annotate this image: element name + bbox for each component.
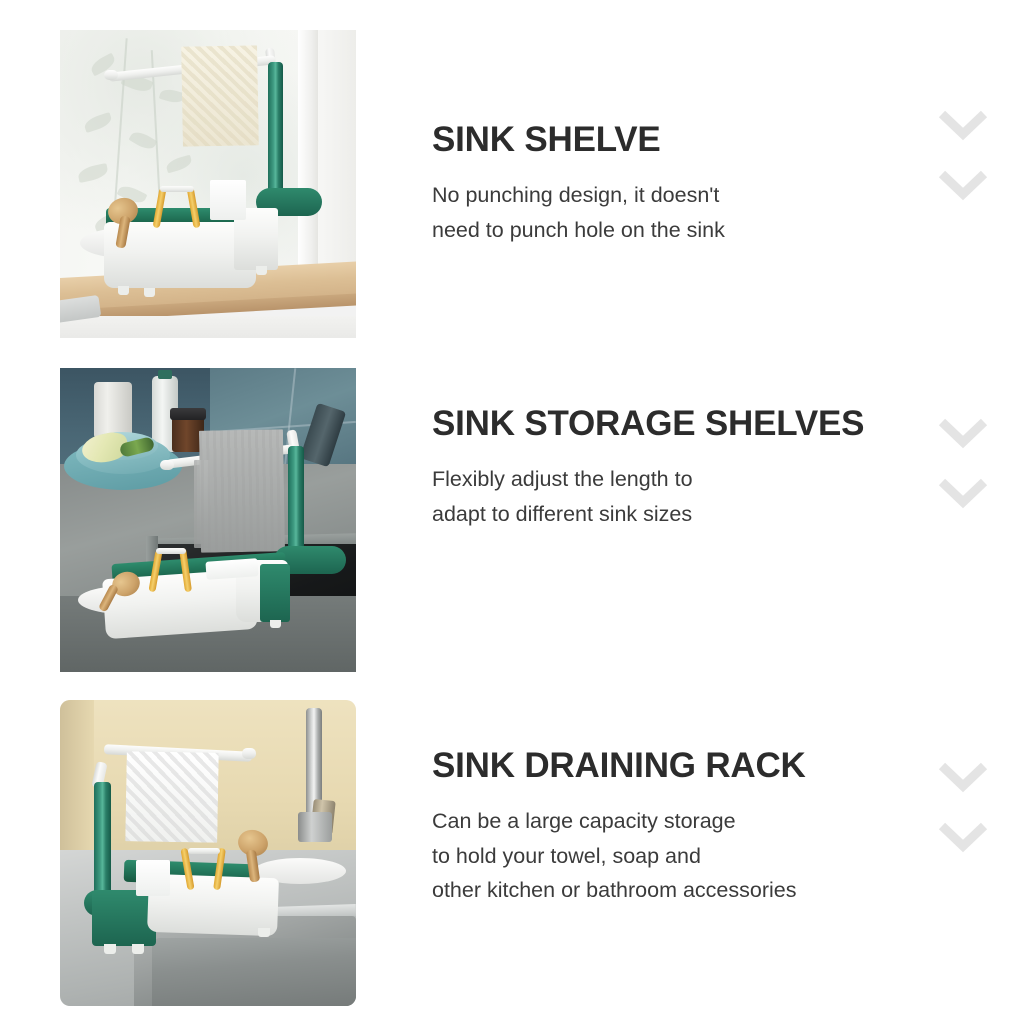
chevron-down-icon[interactable] [938, 106, 988, 142]
counter-surface [60, 316, 356, 338]
description-line: need to punch hole on the sink [432, 218, 725, 242]
chevron-group [938, 106, 992, 226]
hanging-towel [199, 429, 285, 552]
rack-foot [132, 944, 144, 954]
rack-vertical-post [288, 446, 304, 552]
feature-description: No punching design, it doesn't need to p… [432, 178, 922, 248]
description-line: other kitchen or bathroom accessories [432, 878, 796, 902]
feature-heading: SINK STORAGE SHELVES [432, 406, 922, 443]
feature-section-sink-draining-rack: SINK DRAINING RACK Can be a large capaci… [0, 700, 1024, 1006]
bottle-cap [158, 370, 172, 379]
feature-description: Flexibly adjust the length to adapt to d… [432, 462, 922, 532]
wall-shadow [60, 700, 94, 870]
rack-foot [104, 944, 116, 954]
chevron-down-icon[interactable] [938, 414, 988, 450]
hook-crossbar [156, 548, 186, 554]
rack-foot [144, 288, 155, 297]
chevron-down-icon[interactable] [938, 818, 988, 854]
white-sponge [205, 558, 258, 580]
scene-window-sill [60, 30, 356, 338]
feature-text-block: SINK DRAINING RACK Can be a large capaci… [432, 748, 922, 908]
spice-jar-lid [170, 408, 206, 420]
hook-crossbar [188, 848, 220, 854]
feature-description: Can be a large capacity storage to hold … [432, 804, 922, 908]
rack-foot [258, 928, 270, 937]
description-line: adapt to different sink sizes [432, 502, 692, 526]
product-photo-sink-shelve [60, 30, 356, 338]
towel-fold [194, 460, 210, 548]
white-sponge [136, 860, 170, 896]
chevron-down-icon[interactable] [938, 166, 988, 202]
faucet-base [298, 812, 332, 842]
feature-heading: SINK DRAINING RACK [432, 748, 922, 785]
towel-bar-end-cap [104, 70, 118, 80]
description-line: No punching design, it doesn't [432, 183, 719, 207]
white-sponge [210, 180, 246, 220]
scene-grey-countertop [60, 368, 356, 672]
towel-bar-end-cap [242, 748, 256, 759]
rack-vertical-post [94, 782, 111, 900]
description-line: to hold your towel, soap and [432, 844, 701, 868]
description-line: Flexibly adjust the length to [432, 467, 693, 491]
feature-text-block: SINK SHELVE No punching design, it doesn… [432, 122, 922, 247]
infographic-page: SINK SHELVE No punching design, it doesn… [0, 0, 1024, 1024]
rack-green-body [92, 890, 156, 946]
feature-text-block: SINK STORAGE SHELVES Flexibly adjust the… [432, 406, 922, 531]
feature-section-sink-shelve: SINK SHELVE No punching design, it doesn… [0, 30, 1024, 340]
product-photo-sink-storage-shelves [60, 368, 356, 672]
description-line: Can be a large capacity storage [432, 809, 736, 833]
window-frame [298, 30, 320, 288]
rack-foot [270, 620, 281, 628]
feature-section-sink-storage-shelves: SINK STORAGE SHELVES Flexibly adjust the… [0, 368, 1024, 674]
chevron-group [938, 414, 992, 534]
rack-green-body [260, 564, 290, 622]
canister [94, 382, 132, 438]
rack-vertical-post [268, 62, 283, 200]
sink-basin-inner [152, 938, 356, 1006]
towel-bar-end-cap [160, 460, 174, 470]
feature-heading: SINK SHELVE [432, 122, 922, 159]
wall-panel [318, 30, 356, 280]
rack-foot [118, 286, 129, 295]
scene-steel-sink [60, 700, 356, 1006]
hanging-towel [125, 751, 219, 843]
hanging-towel [181, 45, 259, 146]
chevron-group [938, 758, 992, 878]
hook-crossbar [160, 186, 194, 192]
rack-foot [256, 266, 267, 275]
chevron-down-icon[interactable] [938, 474, 988, 510]
product-photo-sink-draining-rack [60, 700, 356, 1006]
chevron-down-icon[interactable] [938, 758, 988, 794]
